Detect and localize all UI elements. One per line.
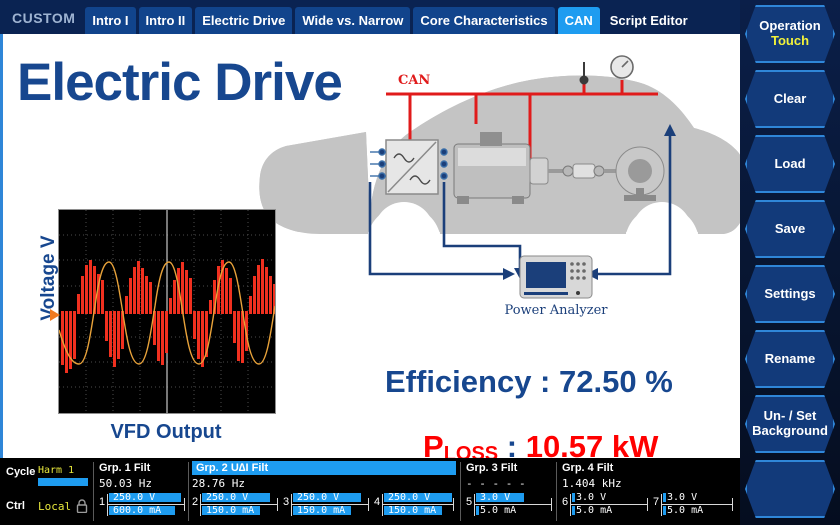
sidebar-button-save[interactable]: Save — [745, 200, 835, 258]
sidebar-button-save-label: Save — [775, 222, 805, 237]
scale-tick — [647, 498, 648, 511]
group-4-channel-6-amp-value: 5.0 mA — [576, 505, 612, 516]
sidebar-button-clear-label: Clear — [774, 92, 807, 107]
group-4-name[interactable]: Grp. 4 Filt — [562, 462, 613, 474]
group-2-channel-2-amp-value: 150.0 mA — [206, 505, 254, 516]
scale-tick — [184, 498, 185, 511]
tab-wide-vs-narrow[interactable]: Wide vs. Narrow — [295, 7, 410, 34]
scale-tick — [732, 498, 733, 511]
group-2-channel-4-amp-value: 150.0 mA — [388, 505, 436, 516]
group-1-channel-1-volt-value: 250.0 V — [113, 492, 155, 503]
sidebar-button-settings-label: Settings — [764, 287, 815, 302]
group-2-frequency: 28.76 Hz — [192, 477, 245, 490]
group-2-channel-4-volt-value: 250.0 V — [388, 492, 430, 503]
cycle-label: Cycle — [6, 466, 35, 478]
group-3-channel-5-number: 5 — [466, 496, 472, 508]
group-1-channel-1-amp-value: 600.0 mA — [113, 505, 161, 516]
group-4-channel-7-amp-bar — [663, 506, 666, 515]
group-1-channel-1-number: 1 — [99, 496, 105, 508]
sidebar-button-clear[interactable]: Clear — [745, 70, 835, 128]
status-divider — [460, 462, 461, 521]
group-2-name[interactable]: Grp. 2 U∆I Filt — [196, 462, 268, 474]
motor-input-terminals — [441, 149, 447, 179]
scale-tick — [291, 494, 292, 516]
sidebar-button-unset-background-line1: Un- / Set — [764, 409, 817, 424]
sidebar-button-unset-background-line2: Background — [752, 424, 828, 439]
custom-label: CUSTOM — [0, 10, 85, 34]
ploss-value: 10.57 kW — [526, 429, 659, 458]
inverter-icon — [386, 140, 438, 194]
tab-intro-ii[interactable]: Intro II — [139, 7, 193, 34]
sidebar-button-rename-label: Rename — [765, 352, 816, 367]
status-divider — [556, 462, 557, 521]
tab-intro-i[interactable]: Intro I — [85, 7, 135, 34]
antenna-icon — [581, 62, 588, 84]
ctrl-label: Ctrl — [6, 500, 25, 512]
efficiency-label: Efficiency : — [385, 364, 550, 399]
scale-tick — [453, 498, 454, 511]
group-3-frequency: - - - - - — [466, 477, 526, 490]
electric-drive-diagram: CAN — [258, 34, 740, 322]
group-4-channel-7-volt-bar — [663, 493, 666, 502]
sidebar-button-rename[interactable]: Rename — [745, 330, 835, 388]
sidebar-button-load-label: Load — [774, 157, 805, 172]
group-3-channel-5-amp-bar — [476, 506, 479, 515]
power-loss-readout: PLOSS : 10.57 kW — [423, 429, 658, 458]
group-3-name[interactable]: Grp. 3 Filt — [466, 462, 517, 474]
group-4-frequency: 1.404 kHz — [562, 477, 622, 490]
group-4-channel-6-volt-bar — [572, 493, 575, 502]
group-1-name[interactable]: Grp. 1 Filt — [99, 462, 150, 474]
group-2-channel-3-number: 3 — [283, 496, 289, 508]
scale-tick — [200, 494, 201, 516]
content-panel: Electric Drive CAN — [0, 34, 740, 458]
scale-tick — [570, 494, 571, 516]
sidebar: Operation Touch Clear Load Save Settings… — [740, 0, 840, 525]
sidebar-button-operation[interactable]: Operation Touch — [745, 5, 835, 63]
tab-bar: CUSTOM Intro I Intro II Electric Drive W… — [0, 0, 740, 34]
status-divider — [188, 462, 189, 521]
group-3-channel-5-amp-value: 5.0 mA — [480, 505, 516, 516]
scale-tick — [368, 498, 369, 511]
ploss-subscript: LOSS — [444, 443, 498, 458]
ploss-colon: : — [498, 429, 526, 458]
group-4-channel-6-amp-bar — [572, 506, 575, 515]
sidebar-button-operation-line1: Operation — [759, 19, 820, 34]
can-bus-label: CAN — [398, 73, 430, 88]
group-4-channel-7-number: 7 — [653, 496, 659, 508]
tab-core-characteristics[interactable]: Core Characteristics — [413, 7, 554, 34]
sidebar-button-settings[interactable]: Settings — [745, 265, 835, 323]
group-2-channel-3-volt-value: 250.0 V — [297, 492, 339, 503]
cycle-value[interactable]: Harm 1 — [38, 465, 74, 476]
tab-can[interactable]: CAN — [558, 7, 600, 34]
group-2-channel-4-number: 4 — [374, 496, 380, 508]
group-2-channel-2-volt-value: 250.0 V — [206, 492, 248, 503]
status-bar: Cycle Harm 1 Ctrl Local Grp. 1 Filt 50.0… — [0, 458, 740, 525]
inverter-input-terminals — [370, 149, 386, 179]
tab-script-editor[interactable]: Script Editor — [603, 7, 695, 34]
group-4-channel-6-number: 6 — [562, 496, 568, 508]
ploss-label: P — [423, 429, 444, 458]
group-4-channel-7-amp-value: 5.0 mA — [667, 505, 703, 516]
power-analyzer-icon — [520, 256, 592, 298]
efficiency-readout: Efficiency : 72.50 % — [385, 364, 673, 400]
scale-tick — [474, 494, 475, 516]
ctrl-value[interactable]: Local — [38, 500, 71, 513]
group-3-channel-5-volt-value: 3.0 V — [480, 492, 510, 503]
scope-x-axis-label: VFD Output — [46, 421, 286, 444]
lock-icon[interactable] — [76, 499, 88, 513]
scale-tick — [551, 498, 552, 511]
group-4-channel-6-volt-value: 3.0 V — [576, 492, 606, 503]
efficiency-value: 72.50 % — [559, 364, 673, 399]
group-2-channel-3-amp-value: 150.0 mA — [297, 505, 345, 516]
group-4-channel-7-volt-value: 3.0 V — [667, 492, 697, 503]
tab-electric-drive[interactable]: Electric Drive — [195, 7, 292, 34]
scope-y-axis-label: Voltage V — [38, 213, 60, 343]
scale-tick — [107, 494, 108, 516]
sidebar-button-empty[interactable] — [745, 460, 835, 518]
sidebar-button-operation-line2: Touch — [771, 34, 809, 49]
scale-tick — [382, 494, 383, 516]
status-divider — [93, 462, 94, 521]
scale-tick — [661, 494, 662, 516]
sidebar-button-load[interactable]: Load — [745, 135, 835, 193]
cycle-bar — [38, 478, 88, 486]
power-analyzer-label: Power Analyzer — [505, 303, 609, 318]
scope-canvas — [59, 210, 275, 413]
sidebar-button-unset-background[interactable]: Un- / Set Background — [745, 395, 835, 453]
application-root: CUSTOM Intro I Intro II Electric Drive W… — [0, 0, 840, 525]
group-2-channel-2-number: 2 — [192, 496, 198, 508]
gauge-icon — [611, 56, 633, 78]
scope-trigger-marker — [50, 309, 60, 321]
scope-display[interactable] — [58, 209, 276, 414]
vfd-scope: Voltage V — [28, 209, 298, 439]
scale-tick — [277, 498, 278, 511]
group-1-frequency: 50.03 Hz — [99, 477, 152, 490]
